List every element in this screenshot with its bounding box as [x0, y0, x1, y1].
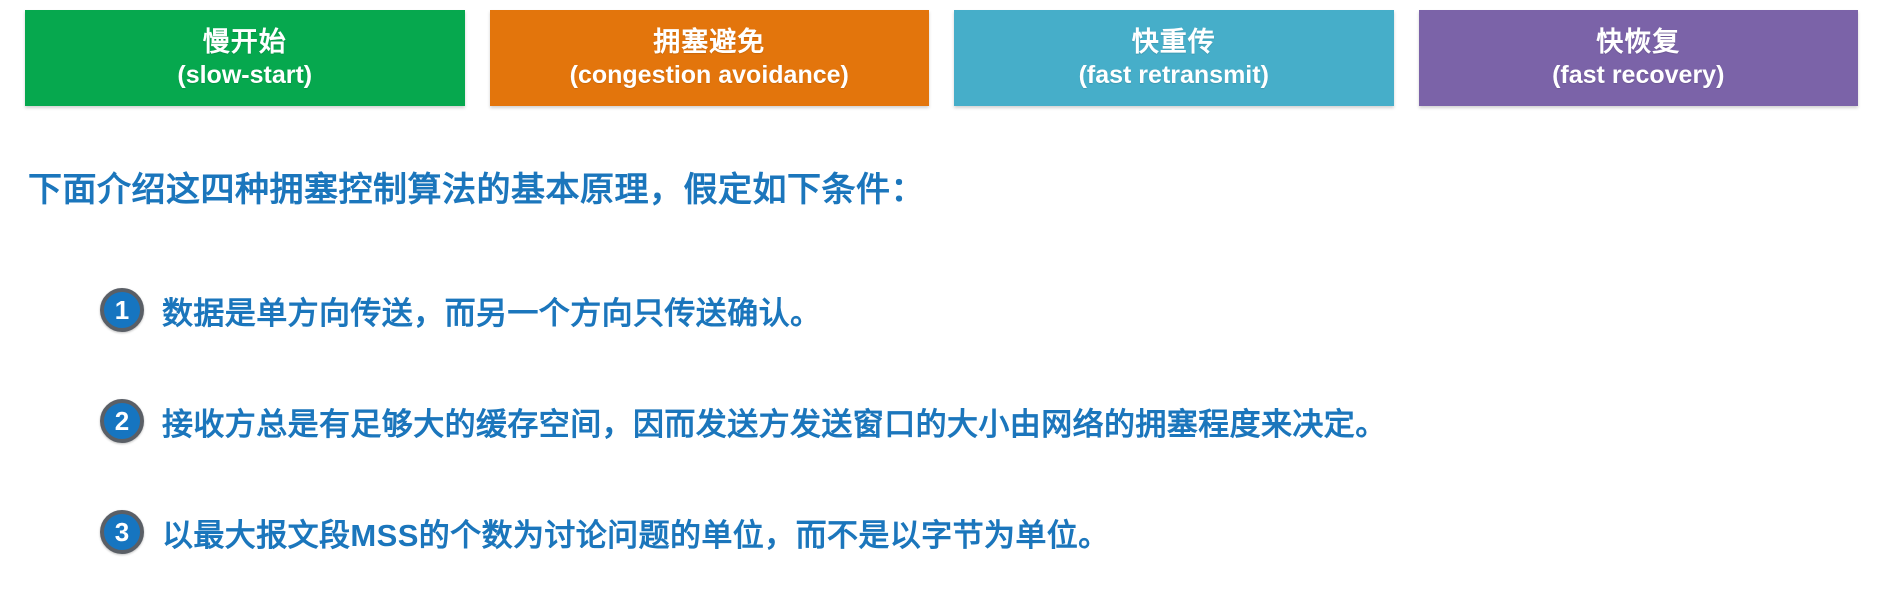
algorithm-box-fast-recovery[interactable]: 快恢复 (fast recovery) [1419, 10, 1859, 106]
algorithm-name-cn: 慢开始 [203, 27, 287, 57]
algorithm-name-cn: 拥塞避免 [653, 27, 765, 57]
condition-number-badge: 3 [100, 510, 144, 554]
list-item: 3 以最大报文段MSS的个数为讨论问题的单位，而不是以字节为单位。 [100, 504, 1860, 560]
algorithm-name-en: (congestion avoidance) [570, 61, 849, 89]
algorithm-name-en: (fast recovery) [1552, 61, 1724, 89]
condition-text: 接收方总是有足够大的缓存空间，因而发送方发送窗口的大小由网络的拥塞程度来决定。 [162, 399, 1387, 444]
list-item: 2 接收方总是有足够大的缓存空间，因而发送方发送窗口的大小由网络的拥塞程度来决定… [100, 393, 1860, 449]
condition-number-badge: 1 [100, 288, 144, 332]
condition-number-badge: 2 [100, 399, 144, 443]
condition-text: 以最大报文段MSS的个数为讨论问题的单位，而不是以字节为单位。 [162, 510, 1110, 555]
algorithm-box-row: 慢开始 (slow-start) 拥塞避免 (congestion avoida… [0, 10, 1883, 116]
algorithm-name-en: (slow-start) [177, 61, 312, 89]
condition-list: 1 数据是单方向传送，而另一个方向只传送确认。 2 接收方总是有足够大的缓存空间… [100, 282, 1860, 560]
algorithm-name-cn: 快恢复 [1596, 27, 1680, 57]
algorithm-box-congestion-avoidance[interactable]: 拥塞避免 (congestion avoidance) [490, 10, 930, 106]
algorithm-box-fast-retransmit[interactable]: 快重传 (fast retransmit) [954, 10, 1394, 106]
slide-heading: 下面介绍这四种拥塞控制算法的基本原理，假定如下条件： [28, 162, 925, 211]
algorithm-name-cn: 快重传 [1132, 27, 1216, 57]
condition-text: 数据是单方向传送，而另一个方向只传送确认。 [162, 288, 821, 333]
algorithm-name-en: (fast retransmit) [1079, 61, 1269, 89]
algorithm-box-slow-start[interactable]: 慢开始 (slow-start) [25, 10, 465, 106]
list-item: 1 数据是单方向传送，而另一个方向只传送确认。 [100, 282, 1860, 338]
